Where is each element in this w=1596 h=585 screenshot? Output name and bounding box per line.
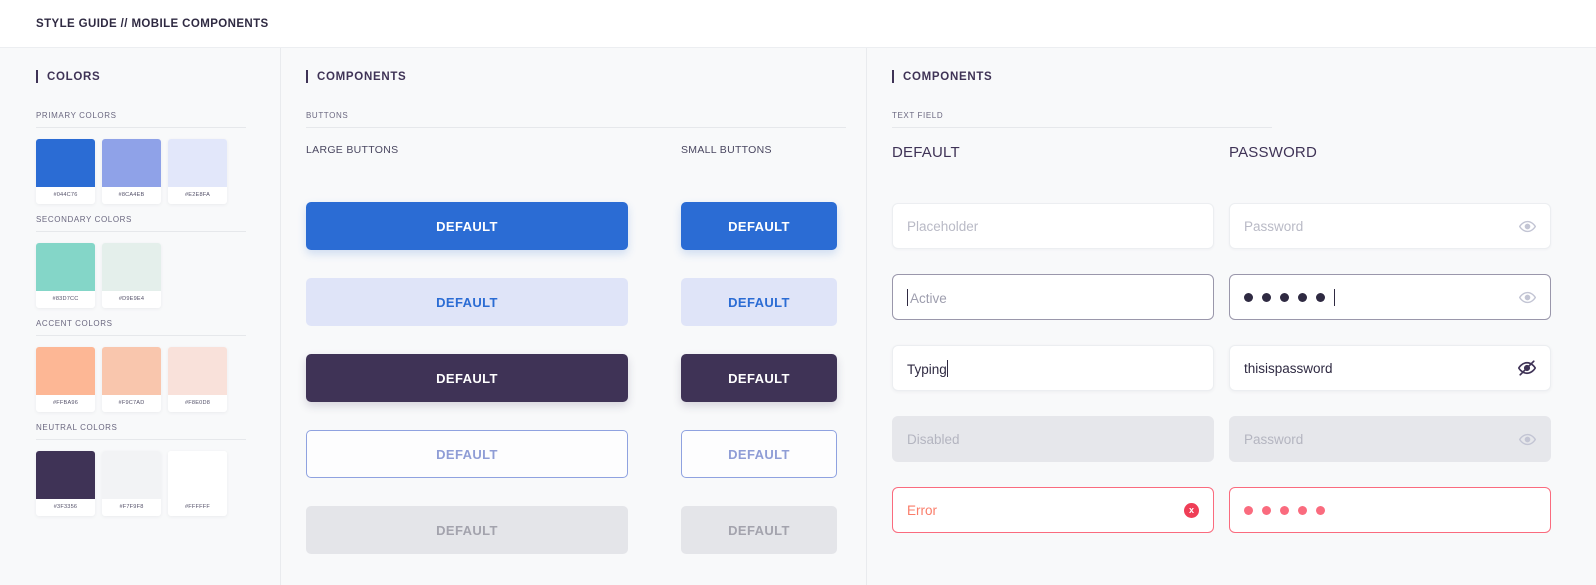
small-button-dark[interactable]: DEFAULT [681, 354, 837, 402]
password-dot [1298, 293, 1307, 302]
buttons-grid: LARGE BUTTONS DEFAULTDEFAULTDEFAULTDEFAU… [306, 144, 866, 582]
swatch-hex-label: #F7F9F8 [102, 499, 161, 516]
textfield-column: COMPONENTS TEXT FIELD DEFAULT Placeholde… [866, 48, 1596, 585]
small-buttons-title: SMALL BUTTONS [681, 144, 859, 166]
textfield-sub-label: TEXT FIELD [892, 111, 1272, 128]
password-dots [1244, 289, 1518, 306]
color-swatch[interactable]: #FFBA96 [36, 347, 95, 412]
swatch-color-fill [168, 347, 227, 395]
color-swatch[interactable]: #FFFFFF [168, 451, 227, 516]
color-group: SECONDARY COLORS#83D7CC#D9E9E4 [36, 215, 280, 308]
eye-icon[interactable] [1518, 217, 1536, 235]
error-circle-icon[interactable]: x [1184, 503, 1199, 518]
text-field-typing[interactable]: Typing [892, 345, 1214, 391]
large-button-disabled: DEFAULT [306, 506, 628, 554]
swatch-color-fill [102, 347, 161, 395]
default-fields-stack: PlaceholderActiveTypingDisabledErrorx [892, 203, 1214, 533]
page-title: STYLE GUIDE // MOBILE COMPONENTS [36, 18, 269, 30]
swatch-row: #044C76#8CA4EB#E2E8FA [36, 139, 280, 204]
colors-column: COLORS PRIMARY COLORS#044C76#8CA4EB#E2E8… [0, 48, 280, 585]
password-fields-title: PASSWORD [1229, 144, 1551, 170]
password-dot [1316, 293, 1325, 302]
password-dot [1298, 506, 1307, 515]
password-dot [1316, 506, 1325, 515]
app-header: STYLE GUIDE // MOBILE COMPONENTS [0, 0, 1596, 48]
components-column: COMPONENTS BUTTONS LARGE BUTTONS DEFAULT… [280, 48, 866, 585]
password-fields-stack: PasswordthisispasswordPassword [1229, 203, 1551, 533]
password-field-value: Password [1244, 219, 1518, 234]
password-field-value: thisispassword [1244, 361, 1518, 376]
swatch-hex-label: #D9E9E4 [102, 291, 161, 308]
small-button-disabled: DEFAULT [681, 506, 837, 554]
swatch-row: #FFBA96#F9C7AD#F8E0D8 [36, 347, 280, 412]
large-button-dark[interactable]: DEFAULT [306, 354, 628, 402]
password-dot [1262, 506, 1271, 515]
password-dot [1244, 293, 1253, 302]
large-button-outline[interactable]: DEFAULT [306, 430, 628, 478]
swatch-hex-label: #E2E8FA [168, 187, 227, 204]
textfield-grid: DEFAULT PlaceholderActiveTypingDisabledE… [892, 144, 1596, 558]
text-field-active[interactable]: Active [892, 274, 1214, 320]
components-section-heading: COMPONENTS [306, 70, 866, 83]
swatch-hex-label: #F9C7AD [102, 395, 161, 412]
eye-off-icon[interactable] [1518, 359, 1536, 377]
text-field-value: Active [907, 289, 1199, 306]
text-field-error[interactable]: Errorx [892, 487, 1214, 533]
small-buttons-column: SMALL BUTTONS DEFAULTDEFAULTDEFAULTDEFAU… [681, 144, 859, 582]
password-dot [1280, 293, 1289, 302]
swatch-color-fill [102, 243, 161, 291]
large-button-primary[interactable]: DEFAULT [306, 202, 628, 250]
password-field-active[interactable] [1229, 274, 1551, 320]
text-caret [1334, 289, 1335, 306]
small-button-outline[interactable]: DEFAULT [681, 430, 837, 478]
text-caret [907, 289, 908, 306]
password-field-default[interactable]: Password [1229, 203, 1551, 249]
color-swatch[interactable]: #F8E0D8 [168, 347, 227, 412]
swatch-hex-label: #044C76 [36, 187, 95, 204]
swatch-color-fill [36, 347, 95, 395]
password-field-typing[interactable]: thisispassword [1229, 345, 1551, 391]
swatch-color-fill [36, 243, 95, 291]
color-group-label: NEUTRAL COLORS [36, 423, 246, 440]
color-swatch[interactable]: #F7F9F8 [102, 451, 161, 516]
text-field-disabled: Disabled [892, 416, 1214, 462]
text-field-value: Typing [907, 360, 1199, 377]
color-swatch[interactable]: #F9C7AD [102, 347, 161, 412]
text-field-value: Error [907, 503, 1184, 518]
color-swatch[interactable]: #8CA4EB [102, 139, 161, 204]
color-group: NEUTRAL COLORS#3F3356#F7F9F8#FFFFFF [36, 423, 280, 516]
color-swatch[interactable]: #044C76 [36, 139, 95, 204]
password-dot [1262, 293, 1271, 302]
color-swatch[interactable]: #E2E8FA [168, 139, 227, 204]
text-field-placeholder: Active [910, 291, 947, 306]
swatch-color-fill [36, 451, 95, 499]
swatch-hex-label: #8CA4EB [102, 187, 161, 204]
default-fields-title: DEFAULT [892, 144, 1214, 170]
swatch-hex-label: #83D7CC [36, 291, 95, 308]
eye-icon[interactable] [1518, 288, 1536, 306]
swatch-row: #83D7CC#D9E9E4 [36, 243, 280, 308]
color-group-label: PRIMARY COLORS [36, 111, 246, 128]
small-buttons-stack: DEFAULTDEFAULTDEFAULTDEFAULTDEFAULT [681, 202, 859, 554]
color-group: ACCENT COLORS#FFBA96#F9C7AD#F8E0D8 [36, 319, 280, 412]
password-field-value: Password [1244, 432, 1518, 447]
swatch-hex-label: #FFBA96 [36, 395, 95, 412]
color-swatch[interactable]: #83D7CC [36, 243, 95, 308]
swatch-color-fill [168, 451, 227, 499]
eye-icon[interactable] [1518, 430, 1536, 448]
color-group-list: PRIMARY COLORS#044C76#8CA4EB#E2E8FASECON… [36, 111, 280, 516]
heading-accent-bar [892, 70, 894, 83]
small-button-secondary[interactable]: DEFAULT [681, 278, 837, 326]
password-dots [1244, 506, 1536, 515]
heading-accent-bar [36, 70, 38, 83]
swatch-row: #3F3356#F7F9F8#FFFFFF [36, 451, 280, 516]
text-field-value: Disabled [907, 432, 1199, 447]
color-swatch[interactable]: #D9E9E4 [102, 243, 161, 308]
column-divider [280, 48, 281, 585]
buttons-sub-label: BUTTONS [306, 111, 846, 128]
password-field-error[interactable] [1229, 487, 1551, 533]
text-field-default[interactable]: Placeholder [892, 203, 1214, 249]
components-section-title: COMPONENTS [317, 71, 406, 83]
text-field-value: Placeholder [907, 219, 1199, 234]
large-buttons-column: LARGE BUTTONS DEFAULTDEFAULTDEFAULTDEFAU… [306, 144, 654, 582]
color-group: PRIMARY COLORS#044C76#8CA4EB#E2E8FA [36, 111, 280, 204]
swatch-color-fill [168, 139, 227, 187]
colors-section-title: COLORS [47, 71, 100, 83]
large-buttons-stack: DEFAULTDEFAULTDEFAULTDEFAULTDEFAULT [306, 202, 654, 554]
heading-accent-bar [306, 70, 308, 83]
colors-section-heading: COLORS [36, 70, 280, 83]
swatch-color-fill [36, 139, 95, 187]
text-field-text: Typing [907, 362, 947, 377]
password-field-disabled: Password [1229, 416, 1551, 462]
swatch-hex-label: #FFFFFF [168, 499, 227, 516]
swatch-color-fill [102, 451, 161, 499]
textfield-section-heading: COMPONENTS [892, 70, 1596, 83]
color-swatch[interactable]: #3F3356 [36, 451, 95, 516]
page-body: COLORS PRIMARY COLORS#044C76#8CA4EB#E2E8… [0, 48, 1596, 585]
swatch-hex-label: #3F3356 [36, 499, 95, 516]
password-dot [1244, 506, 1253, 515]
color-group-label: ACCENT COLORS [36, 319, 246, 336]
password-dot [1280, 506, 1289, 515]
color-group-label: SECONDARY COLORS [36, 215, 246, 232]
default-fields-column: DEFAULT PlaceholderActiveTypingDisabledE… [892, 144, 1214, 558]
password-fields-column: PASSWORD PasswordthisispasswordPassword [1229, 144, 1551, 558]
textfield-section-title: COMPONENTS [903, 71, 992, 83]
large-buttons-title: LARGE BUTTONS [306, 144, 654, 166]
small-button-primary[interactable]: DEFAULT [681, 202, 837, 250]
column-divider [866, 48, 867, 585]
text-field-text: Error [907, 503, 937, 518]
swatch-hex-label: #F8E0D8 [168, 395, 227, 412]
large-button-secondary[interactable]: DEFAULT [306, 278, 628, 326]
text-caret [947, 360, 948, 377]
swatch-color-fill [102, 139, 161, 187]
